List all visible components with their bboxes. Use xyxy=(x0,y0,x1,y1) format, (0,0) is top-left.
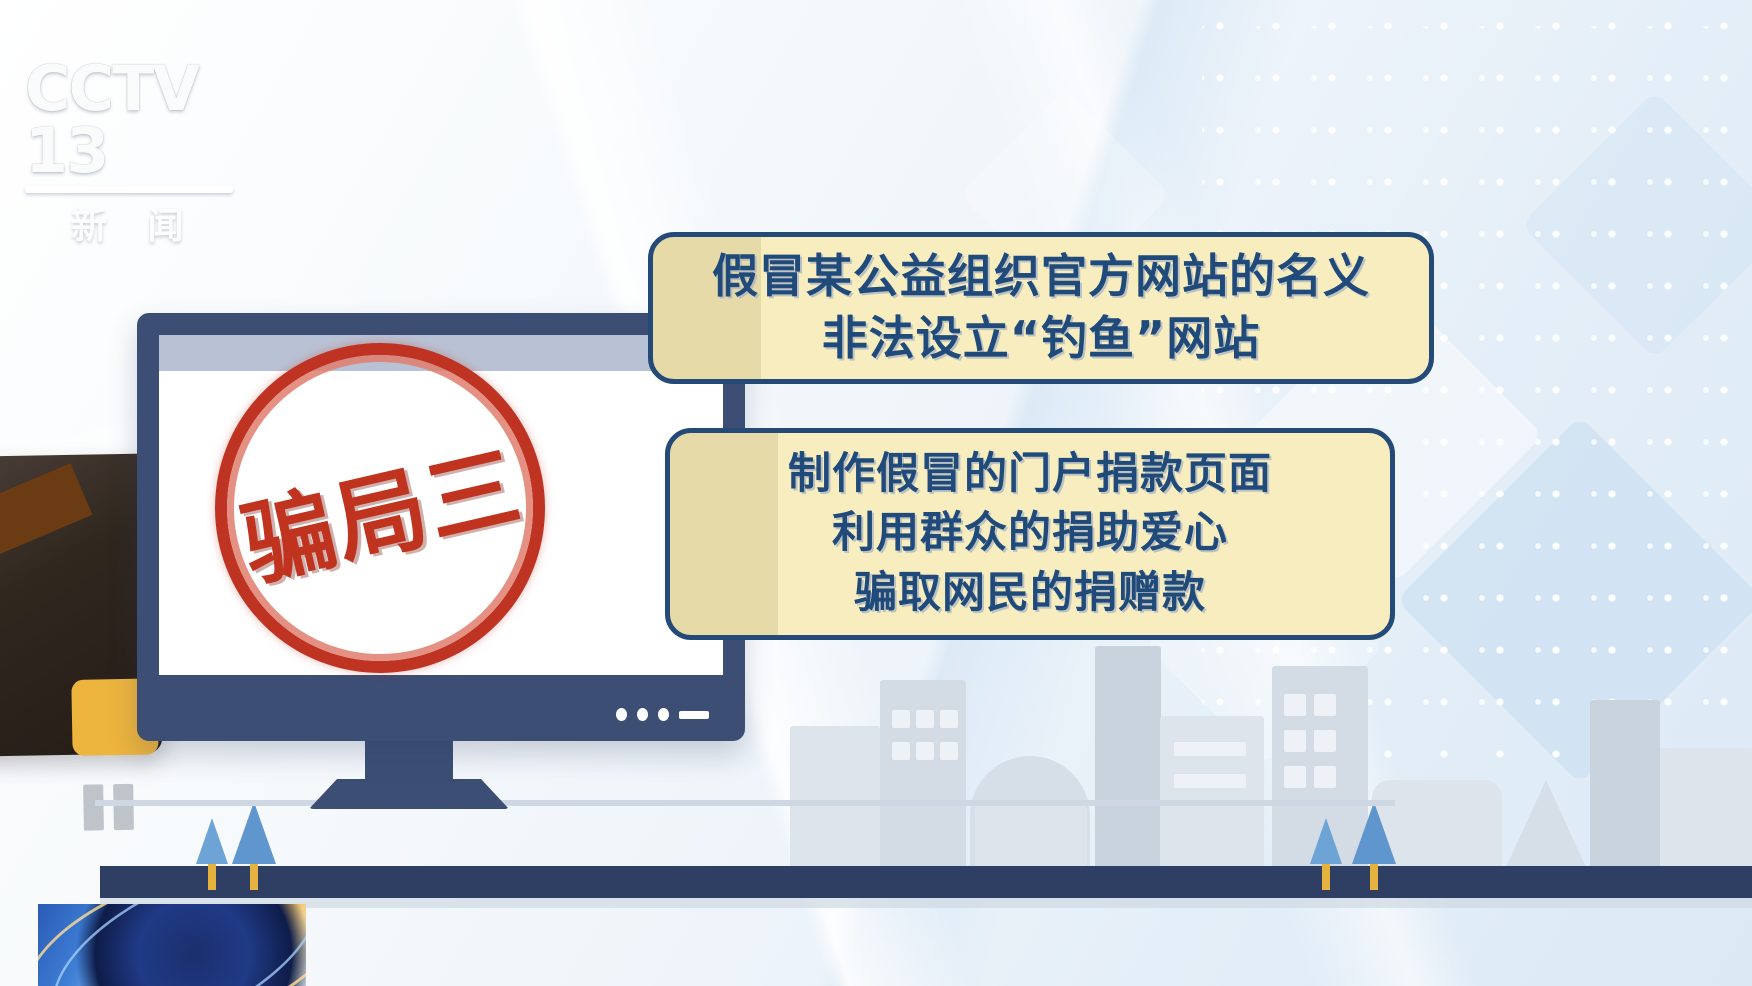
monitor-indicator-buttons xyxy=(616,708,709,721)
tree-right-large xyxy=(1352,802,1396,890)
stamp-label: 骗局三 xyxy=(228,411,533,604)
credit-card-stripe xyxy=(0,463,92,585)
callout-box-1: 假冒某公益组织官方网站的名义 非法设立“钓鱼”网站 xyxy=(648,232,1434,384)
stamp-text-wrap: 骗局三 xyxy=(182,310,578,706)
callout-2-inner-shade xyxy=(670,433,778,635)
callout-1-line-1: 假冒某公益组织官方网站的名义 xyxy=(712,246,1370,308)
scam-stamp: 骗局三 xyxy=(215,343,545,673)
monitor-stand xyxy=(365,735,453,805)
callout-2-line-2: 利用群众的捐助爱心 xyxy=(832,504,1228,563)
channel-logo-underline xyxy=(25,186,233,193)
monitor-dot-1 xyxy=(616,708,627,721)
tree-right-small xyxy=(1310,818,1342,890)
news-globe-bug xyxy=(38,904,306,986)
monitor-dot-2 xyxy=(637,708,648,721)
ground-bar xyxy=(100,866,1752,898)
tree-left-large xyxy=(232,802,276,890)
callout-2-line-1: 制作假冒的门户捐款页面 xyxy=(788,445,1272,504)
credit-card-bars xyxy=(83,784,134,831)
broadcast-frame: 骗局三 假冒某公益组织官方网站的名义 非法设立“钓鱼”网站 制作假冒的门户捐款页… xyxy=(0,0,1752,986)
city-skyline xyxy=(760,616,1752,876)
callout-2-line-3: 骗取网民的捐赠款 xyxy=(854,564,1206,623)
channel-logo-subtitle: 新 闻 xyxy=(25,197,270,249)
callout-box-2: 制作假冒的门户捐款页面 利用群众的捐助爱心 骗取网民的捐赠款 xyxy=(665,428,1395,640)
channel-logo-mark: CCTV 13 xyxy=(25,58,270,182)
monitor-power-dash xyxy=(679,711,709,719)
callout-1-line-2: 非法设立“钓鱼”网站 xyxy=(822,308,1260,370)
monitor-dot-3 xyxy=(658,708,669,721)
channel-logo: CCTV 13 新 闻 xyxy=(25,58,270,178)
tree-left-small xyxy=(196,818,228,890)
desk-edge-line xyxy=(95,800,1395,806)
